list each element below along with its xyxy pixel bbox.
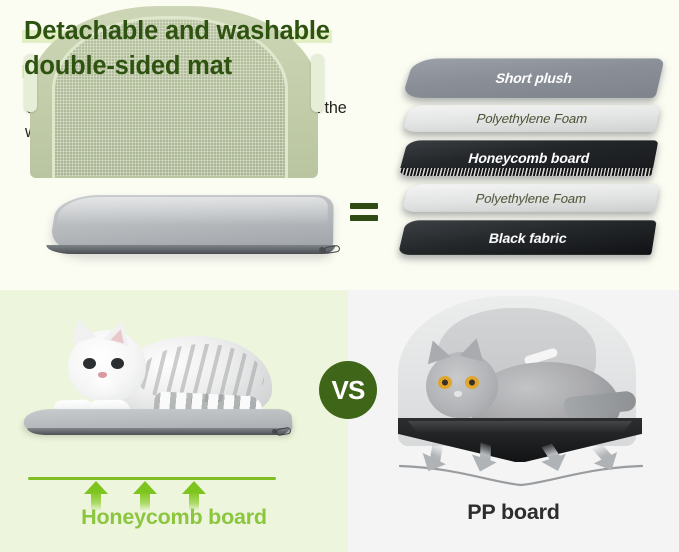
- cat-right-eye-right: [465, 376, 479, 389]
- honeycomb-mat-flat: [24, 408, 292, 442]
- heading-text-1: Detachable and washable: [24, 17, 330, 45]
- vs-badge: VS: [319, 361, 377, 419]
- cat-right-head: [426, 352, 498, 418]
- cat-left-nose: [98, 372, 107, 378]
- layer-polyethylene-foam-bottom: Polyethylene Foam: [405, 184, 657, 212]
- layer-black-fabric: Black fabric: [402, 220, 654, 255]
- layer-slab-foam-bottom: Polyethylene Foam: [401, 184, 659, 212]
- cat-left-eye-left: [83, 358, 96, 369]
- support-line-green: [28, 477, 276, 480]
- equals-bar-bottom: [350, 215, 378, 221]
- layer-label-foam-bottom: Polyethylene Foam: [474, 191, 588, 206]
- layer-label-short-plush: Short plush: [494, 70, 574, 86]
- honeycomb-mat-edge: [27, 428, 289, 435]
- mat-product-photo: [18, 190, 338, 270]
- equals-bar-top: [350, 203, 378, 209]
- layer-polyethylene-foam-top: Polyethylene Foam: [406, 105, 658, 132]
- cat-right-eye-left: [438, 376, 452, 389]
- layer-slab-black-fabric: Black fabric: [398, 220, 657, 255]
- cat-left-eye-right: [111, 358, 124, 369]
- equals-sign-icon: [350, 203, 378, 223]
- layer-stack-diagram: Short plush Polyethylene Foam Honeycomb …: [400, 58, 668, 273]
- pp-board-sheen: [408, 421, 632, 433]
- zipper-tab-left: [276, 427, 292, 436]
- mat-edge: [46, 245, 336, 254]
- layer-label-black-fabric: Black fabric: [488, 230, 569, 246]
- layer-honeycomb-board: Honeycomb board: [403, 140, 655, 176]
- caption-pp-board: PP board: [348, 500, 679, 525]
- vs-label: VS: [331, 377, 364, 403]
- caption-honeycomb-board: Honeycomb board: [0, 505, 348, 530]
- honeycomb-flutes-texture: [398, 168, 653, 176]
- cat-right-nose: [454, 391, 462, 397]
- heading-text-2: double-sided mat: [24, 52, 232, 80]
- layer-label-honeycomb-board: Honeycomb board: [467, 150, 591, 166]
- layer-slab-foam-top: Polyethylene Foam: [402, 105, 661, 132]
- layer-slab-short-plush: Short plush: [402, 58, 665, 98]
- product-infographic: Detachable and washable double-sided mat…: [0, 0, 679, 552]
- zipper-tab: [324, 245, 341, 254]
- layer-label-foam-top: Polyethylene Foam: [475, 111, 589, 126]
- zipper-pull-icon-left: [272, 427, 292, 438]
- heading-line-1: Detachable and washable: [24, 14, 330, 48]
- zipper-pull-icon: [319, 244, 341, 256]
- carrier-handle-right: [311, 54, 324, 112]
- heading-line-2: double-sided mat: [24, 49, 232, 83]
- layer-short-plush: Short plush: [408, 58, 660, 98]
- layer-slab-honeycomb: Honeycomb board: [398, 140, 658, 176]
